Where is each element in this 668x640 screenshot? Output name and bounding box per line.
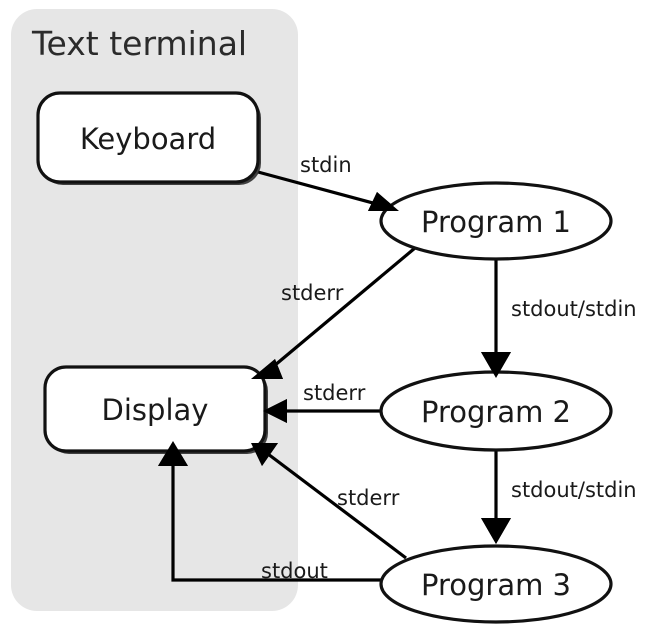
diagram-canvas: Text terminal stdin stderr stdout/stdin … [0,0,668,640]
edge-label-stderr-p3: stderr [337,486,400,510]
terminal-pipeline-diagram: Text terminal stdin stderr stdout/stdin … [0,0,668,640]
keyboard-label: Keyboard [80,122,216,156]
display-label: Display [102,393,209,427]
edge-label-stderr-p2: stderr [303,381,366,405]
edge-label-stdout-stdin-2: stdout/stdin [511,478,637,502]
edge-label-stdout-stdin-1: stdout/stdin [511,297,637,321]
node-display[interactable]: Display [45,367,268,454]
node-keyboard[interactable]: Keyboard [38,93,261,185]
edge-program2-program3: stdout/stdin [481,448,637,544]
program1-label: Program 1 [421,205,571,239]
panel-title: Text terminal [31,24,247,63]
arrowhead-stdout-stdin-2-overlay [481,518,511,544]
edge-label-stdin: stdin [300,153,352,177]
edge-label-stderr-p1: stderr [281,281,344,305]
program3-label: Program 3 [421,568,571,602]
node-program3[interactable]: Program 3 [381,546,611,622]
node-program2[interactable]: Program 2 [381,372,611,450]
edge-label-stdout: stdout [261,559,328,583]
program2-label: Program 2 [421,395,571,429]
node-program1[interactable]: Program 1 [381,183,611,259]
